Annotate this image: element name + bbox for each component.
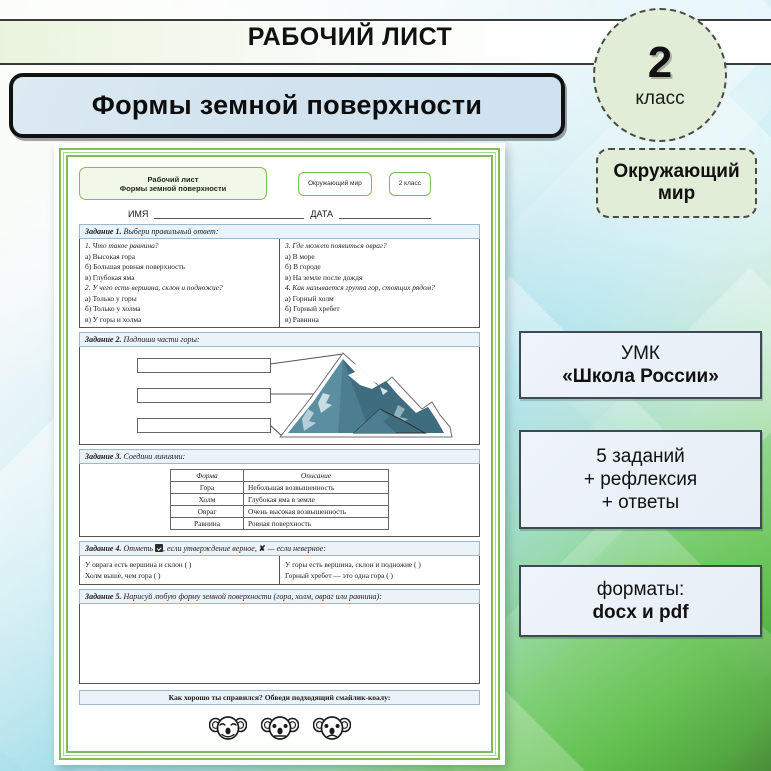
x-mark-icon: ✘ <box>259 544 266 553</box>
task1-number: Задание 1. <box>85 227 121 236</box>
info-line: «Школа России» <box>562 365 719 388</box>
column-header-description: Описание <box>244 470 389 482</box>
option-text[interactable]: в) На земле после дождя <box>285 273 474 284</box>
cell-description[interactable]: Небольшая возвышенность <box>244 482 389 494</box>
grade-label: класс <box>635 88 684 110</box>
poster-title-box: Формы земной поверхности <box>9 73 565 138</box>
koala-happy-icon[interactable] <box>209 713 247 743</box>
worksheet-title-block: Рабочий лист Формы земной поверхности <box>79 167 267 200</box>
task3-heading: Задание 3. Соедини линиями: <box>79 449 480 464</box>
worksheet-header: Рабочий лист Формы земной поверхности Ок… <box>79 167 480 200</box>
task5-number: Задание 5. <box>85 592 121 601</box>
column-header-form: Форма <box>171 470 244 482</box>
task3-body: Форма Описание Гора Небольшая возвышенно… <box>79 464 480 537</box>
poster-root: РАБОЧИЙ ЛИСТ Формы земной поверхности 2 … <box>0 0 771 771</box>
info-line: docx и pdf <box>592 601 688 624</box>
name-field-label: ИМЯ <box>128 209 148 219</box>
reflection-prompt: Как хорошо ты справился? Обведи подходящ… <box>79 690 480 705</box>
date-field-line[interactable] <box>339 207 431 219</box>
info-box-umk: УМК «Школа России» <box>519 331 762 399</box>
task5-drawing-area[interactable] <box>79 604 480 684</box>
task4-left-column: У оврага есть вершина и склон ( ) Холм в… <box>80 556 279 584</box>
task1-right-column: 3. Где может появиться овраг? а) В море … <box>279 239 479 327</box>
info-line: + ответы <box>602 491 679 514</box>
table-row[interactable]: Овраг Очень высокая возвышенность <box>171 506 389 518</box>
task1-left-column: 1. Что такое равнина? а) Высокая гора б)… <box>80 239 279 327</box>
question-text: 4. Как называется группа гор, стоящих ря… <box>285 283 474 294</box>
task4-body: У оврага есть вершина и склон ( ) Холм в… <box>79 556 480 585</box>
worksheet-title-line2: Формы земной поверхности <box>120 184 226 193</box>
option-text[interactable]: а) Горный холм <box>285 294 474 305</box>
statement-text[interactable]: У горы есть вершина, склон и подножие ( … <box>285 559 474 570</box>
worksheet-border-inner: Рабочий лист Формы земной поверхности Ок… <box>66 155 493 753</box>
task1-body: 1. Что такое равнина? а) Высокая гора б)… <box>79 239 480 328</box>
cell-description[interactable]: Очень высокая возвышенность <box>244 506 389 518</box>
cell-form[interactable]: Холм <box>171 494 244 506</box>
option-text[interactable]: в) Глубокая яма <box>85 273 274 284</box>
table-row[interactable]: Холм Глубокая яма в земле <box>171 494 389 506</box>
worksheet-preview: Рабочий лист Формы земной поверхности Ок… <box>54 143 505 765</box>
statement-text[interactable]: Горный хребет — это одна гора ( ) <box>285 570 474 581</box>
cell-description[interactable]: Глубокая яма в земле <box>244 494 389 506</box>
statement-text[interactable]: У оврага есть вершина и склон ( ) <box>85 559 274 570</box>
page-title: Формы земной поверхности <box>92 90 483 121</box>
name-field-line[interactable] <box>154 207 304 219</box>
task1-heading: Задание 1. Выбери правильный ответ: <box>79 224 480 239</box>
info-box-contents: 5 заданий + рефлексия + ответы <box>519 430 762 529</box>
option-text[interactable]: в) У горы и холма <box>85 315 274 326</box>
cell-description[interactable]: Ровная поверхность <box>244 518 389 530</box>
option-text[interactable]: а) Только у горы <box>85 294 274 305</box>
cell-form[interactable]: Гора <box>171 482 244 494</box>
task3-number: Задание 3. <box>85 452 121 461</box>
task2-body <box>79 347 480 445</box>
cell-form[interactable]: Овраг <box>171 506 244 518</box>
info-box-formats: форматы: docx и pdf <box>519 565 762 637</box>
table-row[interactable]: Равнина Ровная поверхность <box>171 518 389 530</box>
task4-heading: Задание 4. Отметь , если утверждение вер… <box>79 541 480 556</box>
info-line: УМК <box>621 342 660 365</box>
question-text: 1. Что такое равнина? <box>85 241 274 252</box>
mountain-illustration <box>80 347 500 444</box>
koala-sad-icon[interactable] <box>313 713 351 743</box>
task4-text-c: — если неверное: <box>268 544 326 553</box>
task1-text: Выбери правильный ответ: <box>123 227 218 236</box>
task4-text-a: Отметь <box>123 544 153 553</box>
task4-text-b: , если утверждение верное, <box>163 544 257 553</box>
task2-text: Подпиши части горы: <box>123 335 199 344</box>
task5-heading: Задание 5. Нарисуй любую форму земной по… <box>79 589 480 604</box>
reflection-faces <box>79 705 480 751</box>
task2-heading: Задание 2. Подпиши части горы: <box>79 332 480 347</box>
subject-label: Окружающий мир <box>604 161 749 205</box>
worksheet-meta-row: ИМЯ ДАТА <box>81 207 478 219</box>
koala-neutral-icon[interactable] <box>261 713 299 743</box>
date-field-label: ДАТА <box>310 209 333 219</box>
option-text[interactable]: в) Равнина <box>285 315 474 326</box>
worksheet-border-outer: Рабочий лист Формы земной поверхности Ок… <box>59 148 500 760</box>
task2-number: Задание 2. <box>85 335 121 344</box>
option-text[interactable]: б) Горный хребет <box>285 304 474 315</box>
match-table: Форма Описание Гора Небольшая возвышенно… <box>170 469 389 530</box>
question-text: 2. У чего есть вершина, склон и подножие… <box>85 283 274 294</box>
grade-badge: 2 класс <box>593 8 727 142</box>
task5-text: Нарисуй любую форму земной поверхности (… <box>123 592 381 601</box>
task4-number: Задание 4. <box>85 544 121 553</box>
worksheet-chip-grade: 2 класс <box>389 172 431 196</box>
worksheet-border-mid: Рабочий лист Формы земной поверхности Ок… <box>63 152 496 756</box>
statement-text[interactable]: Холм выше, чем гора ( ) <box>85 570 274 581</box>
header-eyebrow: РАБОЧИЙ ЛИСТ <box>0 23 700 52</box>
option-text[interactable]: а) Высокая гора <box>85 252 274 263</box>
table-row[interactable]: Гора Небольшая возвышенность <box>171 482 389 494</box>
cell-form[interactable]: Равнина <box>171 518 244 530</box>
info-line: + рефлексия <box>584 468 697 491</box>
option-text[interactable]: б) Только у холма <box>85 304 274 315</box>
info-line: 5 заданий <box>596 445 685 468</box>
question-text: 3. Где может появиться овраг? <box>285 241 474 252</box>
subject-badge: Окружающий мир <box>596 148 757 218</box>
option-text[interactable]: а) В море <box>285 252 474 263</box>
checkmark-icon <box>155 544 163 552</box>
worksheet-chip-subject: Окружающий мир <box>298 172 372 196</box>
task4-right-column: У горы есть вершина, склон и подножие ( … <box>279 556 479 584</box>
option-text[interactable]: б) Большая ровная поверхность <box>85 262 274 273</box>
option-text[interactable]: б) В городе <box>285 262 474 273</box>
info-line: форматы: <box>597 578 685 601</box>
grade-number: 2 <box>648 41 672 85</box>
worksheet-title-line1: Рабочий лист <box>148 175 199 184</box>
worksheet-page: Рабочий лист Формы земной поверхности Ок… <box>72 161 487 747</box>
task3-text: Соедини линиями: <box>123 452 185 461</box>
table-header-row: Форма Описание <box>171 470 389 482</box>
